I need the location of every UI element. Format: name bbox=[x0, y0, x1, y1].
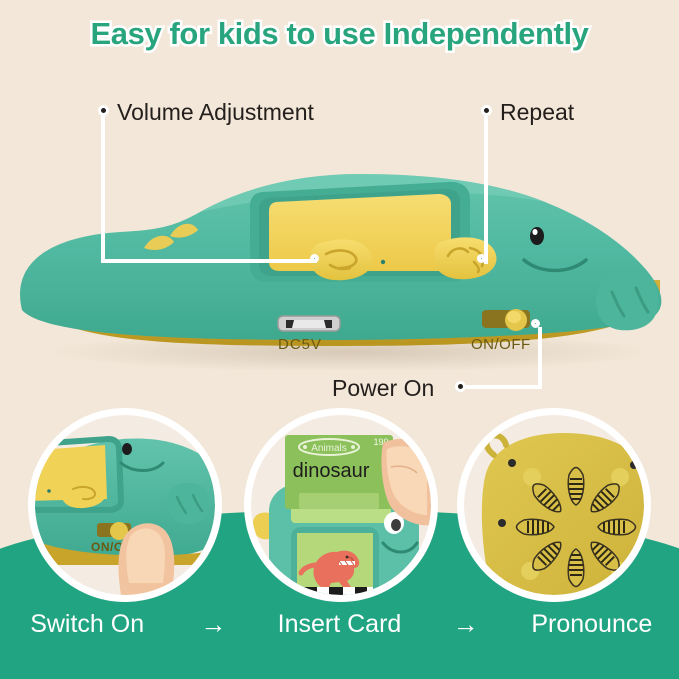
step-image-switch-on: ON/OFF bbox=[35, 415, 215, 595]
flow-arrow-2: → bbox=[453, 609, 479, 640]
step-circle-insert-card: Animals 199 dinosaur bbox=[251, 415, 431, 595]
volume-leader-horizontal bbox=[101, 259, 317, 263]
callout-label-volume: Volume Adjustment bbox=[117, 99, 314, 126]
step-circle-switch-on: ON/OFF bbox=[35, 415, 215, 595]
callout-label-power: Power On bbox=[332, 375, 434, 402]
power-leader-vertical bbox=[538, 327, 542, 387]
volume-anchor-dot bbox=[310, 254, 319, 263]
flow-step-switch-on: Switch On bbox=[0, 610, 174, 639]
dc5v-label: DC5V bbox=[278, 336, 322, 353]
power-callout-dot bbox=[455, 381, 466, 392]
dc5v-port-shape bbox=[278, 316, 340, 331]
volume-button-shape bbox=[310, 239, 372, 280]
page-title: Easy for kids to use Independently bbox=[0, 16, 679, 52]
callout-label-repeat: Repeat bbox=[500, 99, 574, 126]
repeat-callout-dot bbox=[481, 105, 492, 116]
svg-text:Animals: Animals bbox=[311, 443, 347, 454]
power-leader-horizontal bbox=[466, 385, 542, 389]
flow-step-insert-card: Insert Card bbox=[252, 610, 426, 639]
volume-leader-vertical bbox=[101, 116, 105, 263]
step-image-pronounce bbox=[464, 415, 644, 595]
process-flow: Switch On → Insert Card → Pronounce bbox=[0, 569, 679, 679]
on-off-switch-shape bbox=[482, 309, 530, 331]
infographic-root: Easy for kids to use Independently bbox=[0, 0, 679, 679]
power-anchor-dot bbox=[531, 319, 540, 328]
svg-text:dinosaur: dinosaur bbox=[293, 460, 370, 482]
step-circle-pronounce bbox=[464, 415, 644, 595]
repeat-anchor-dot bbox=[477, 254, 486, 263]
volume-callout-dot bbox=[98, 105, 109, 116]
flow-step-pronounce: Pronounce bbox=[505, 610, 679, 639]
repeat-leader-vertical bbox=[484, 116, 488, 264]
step-image-insert-card: Animals 199 dinosaur bbox=[251, 415, 431, 595]
flow-arrow-1: → bbox=[200, 609, 226, 640]
on-off-label: ON/OFF bbox=[471, 336, 531, 353]
